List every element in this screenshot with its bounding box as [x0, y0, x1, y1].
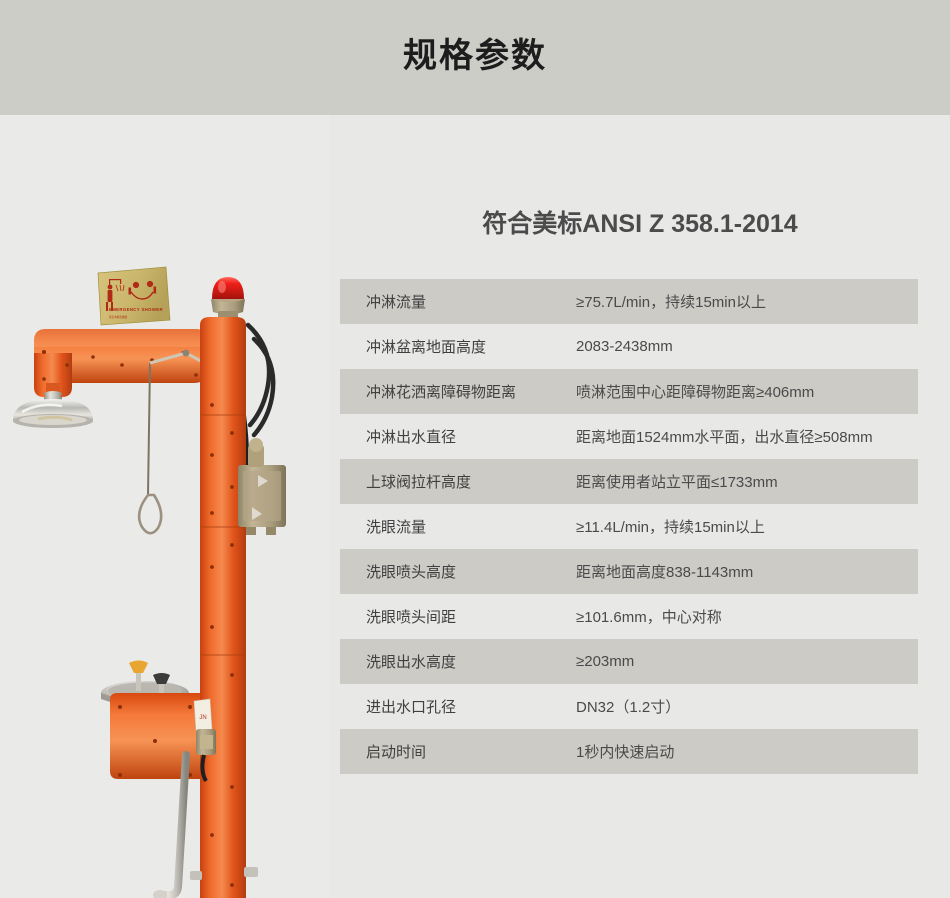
spec-row-value: ≥75.7L/min，持续15min以上: [576, 291, 918, 312]
spec-row-value: ≥203mm: [576, 653, 918, 670]
spec-row-label: 洗眼喷头高度: [340, 561, 576, 582]
spec-row-label: 上球阀拉杆高度: [340, 471, 576, 492]
spec-row-value: 2083-2438mm: [576, 338, 918, 355]
spec-row-value: ≥101.6mm，中心对称: [576, 606, 918, 627]
spec-row-value: ≥11.4L/min，持续15min以上: [576, 516, 918, 537]
spec-row: 洗眼喷头间距≥101.6mm，中心对称: [340, 594, 918, 639]
spec-row: 冲淋花洒离障碍物距离喷淋范围中心距障碍物距离≥406mm: [340, 369, 918, 414]
spec-row-value: 喷淋范围中心距障碍物距离≥406mm: [576, 381, 918, 402]
spec-row-value: 距离地面1524mm水平面，出水直径≥508mm: [576, 426, 918, 447]
spec-row-value: 1秒内快速启动: [576, 741, 918, 762]
spec-row: 上球阀拉杆高度距离使用者站立平面≤1733mm: [340, 459, 918, 504]
spec-row: 进出水口孔径DN32（1.2寸）: [340, 684, 918, 729]
spec-row-label: 洗眼喷头间距: [340, 606, 576, 627]
spec-row: 洗眼出水高度≥203mm: [340, 639, 918, 684]
spec-row: 启动时间1秒内快速启动: [340, 729, 918, 774]
spec-row: 冲淋盆离地面高度2083-2438mm: [340, 324, 918, 369]
page-title: 规格参数: [0, 32, 950, 80]
spec-row-value: 距离地面高度838-1143mm: [576, 561, 918, 582]
product-image: EMERGENCY SHOWER 紧急冲淋洗眼器: [0, 115, 330, 898]
spec-row-label: 启动时间: [340, 741, 576, 762]
spec-row-label: 洗眼出水高度: [340, 651, 576, 672]
svg-text:EMERGENCY SHOWER: EMERGENCY SHOWER: [109, 307, 164, 312]
spec-heading: 符合美标ANSI Z 358.1-2014: [330, 207, 950, 241]
spec-row: 冲淋流量≥75.7L/min，持续15min以上: [340, 279, 918, 324]
spec-row-label: 冲淋盆离地面高度: [340, 336, 576, 357]
spec-row: 洗眼流量≥11.4L/min，持续15min以上: [340, 504, 918, 549]
spec-row-value: DN32（1.2寸）: [576, 696, 918, 717]
spec-row-value: 距离使用者站立平面≤1733mm: [576, 471, 918, 492]
product-tag: JN: [194, 699, 212, 731]
warning-sign-plate: EMERGENCY SHOWER 紧急冲淋洗眼器: [98, 267, 170, 325]
emergency-shower-illustration: EMERGENCY SHOWER 紧急冲淋洗眼器: [0, 115, 330, 898]
spec-row-label: 进出水口孔径: [340, 696, 576, 717]
spec-pane: 符合美标ANSI Z 358.1-2014 冲淋流量≥75.7L/min，持续1…: [330, 115, 950, 898]
svg-text:紧急冲淋洗眼器: 紧急冲淋洗眼器: [109, 315, 128, 319]
vertical-pole: [200, 317, 246, 898]
spec-row-label: 冲淋花洒离障碍物距离: [340, 381, 576, 402]
spec-row-label: 冲淋出水直径: [340, 426, 576, 447]
spec-row-label: 洗眼流量: [340, 516, 576, 537]
spec-row: 洗眼喷头高度距离地面高度838-1143mm: [340, 549, 918, 594]
spec-row-label: 冲淋流量: [340, 291, 576, 312]
svg-text:JN: JN: [199, 715, 206, 721]
spec-row: 冲淋出水直径距离地面1524mm水平面，出水直径≥508mm: [340, 414, 918, 459]
spec-table: 冲淋流量≥75.7L/min，持续15min以上冲淋盆离地面高度2083-243…: [340, 279, 918, 774]
